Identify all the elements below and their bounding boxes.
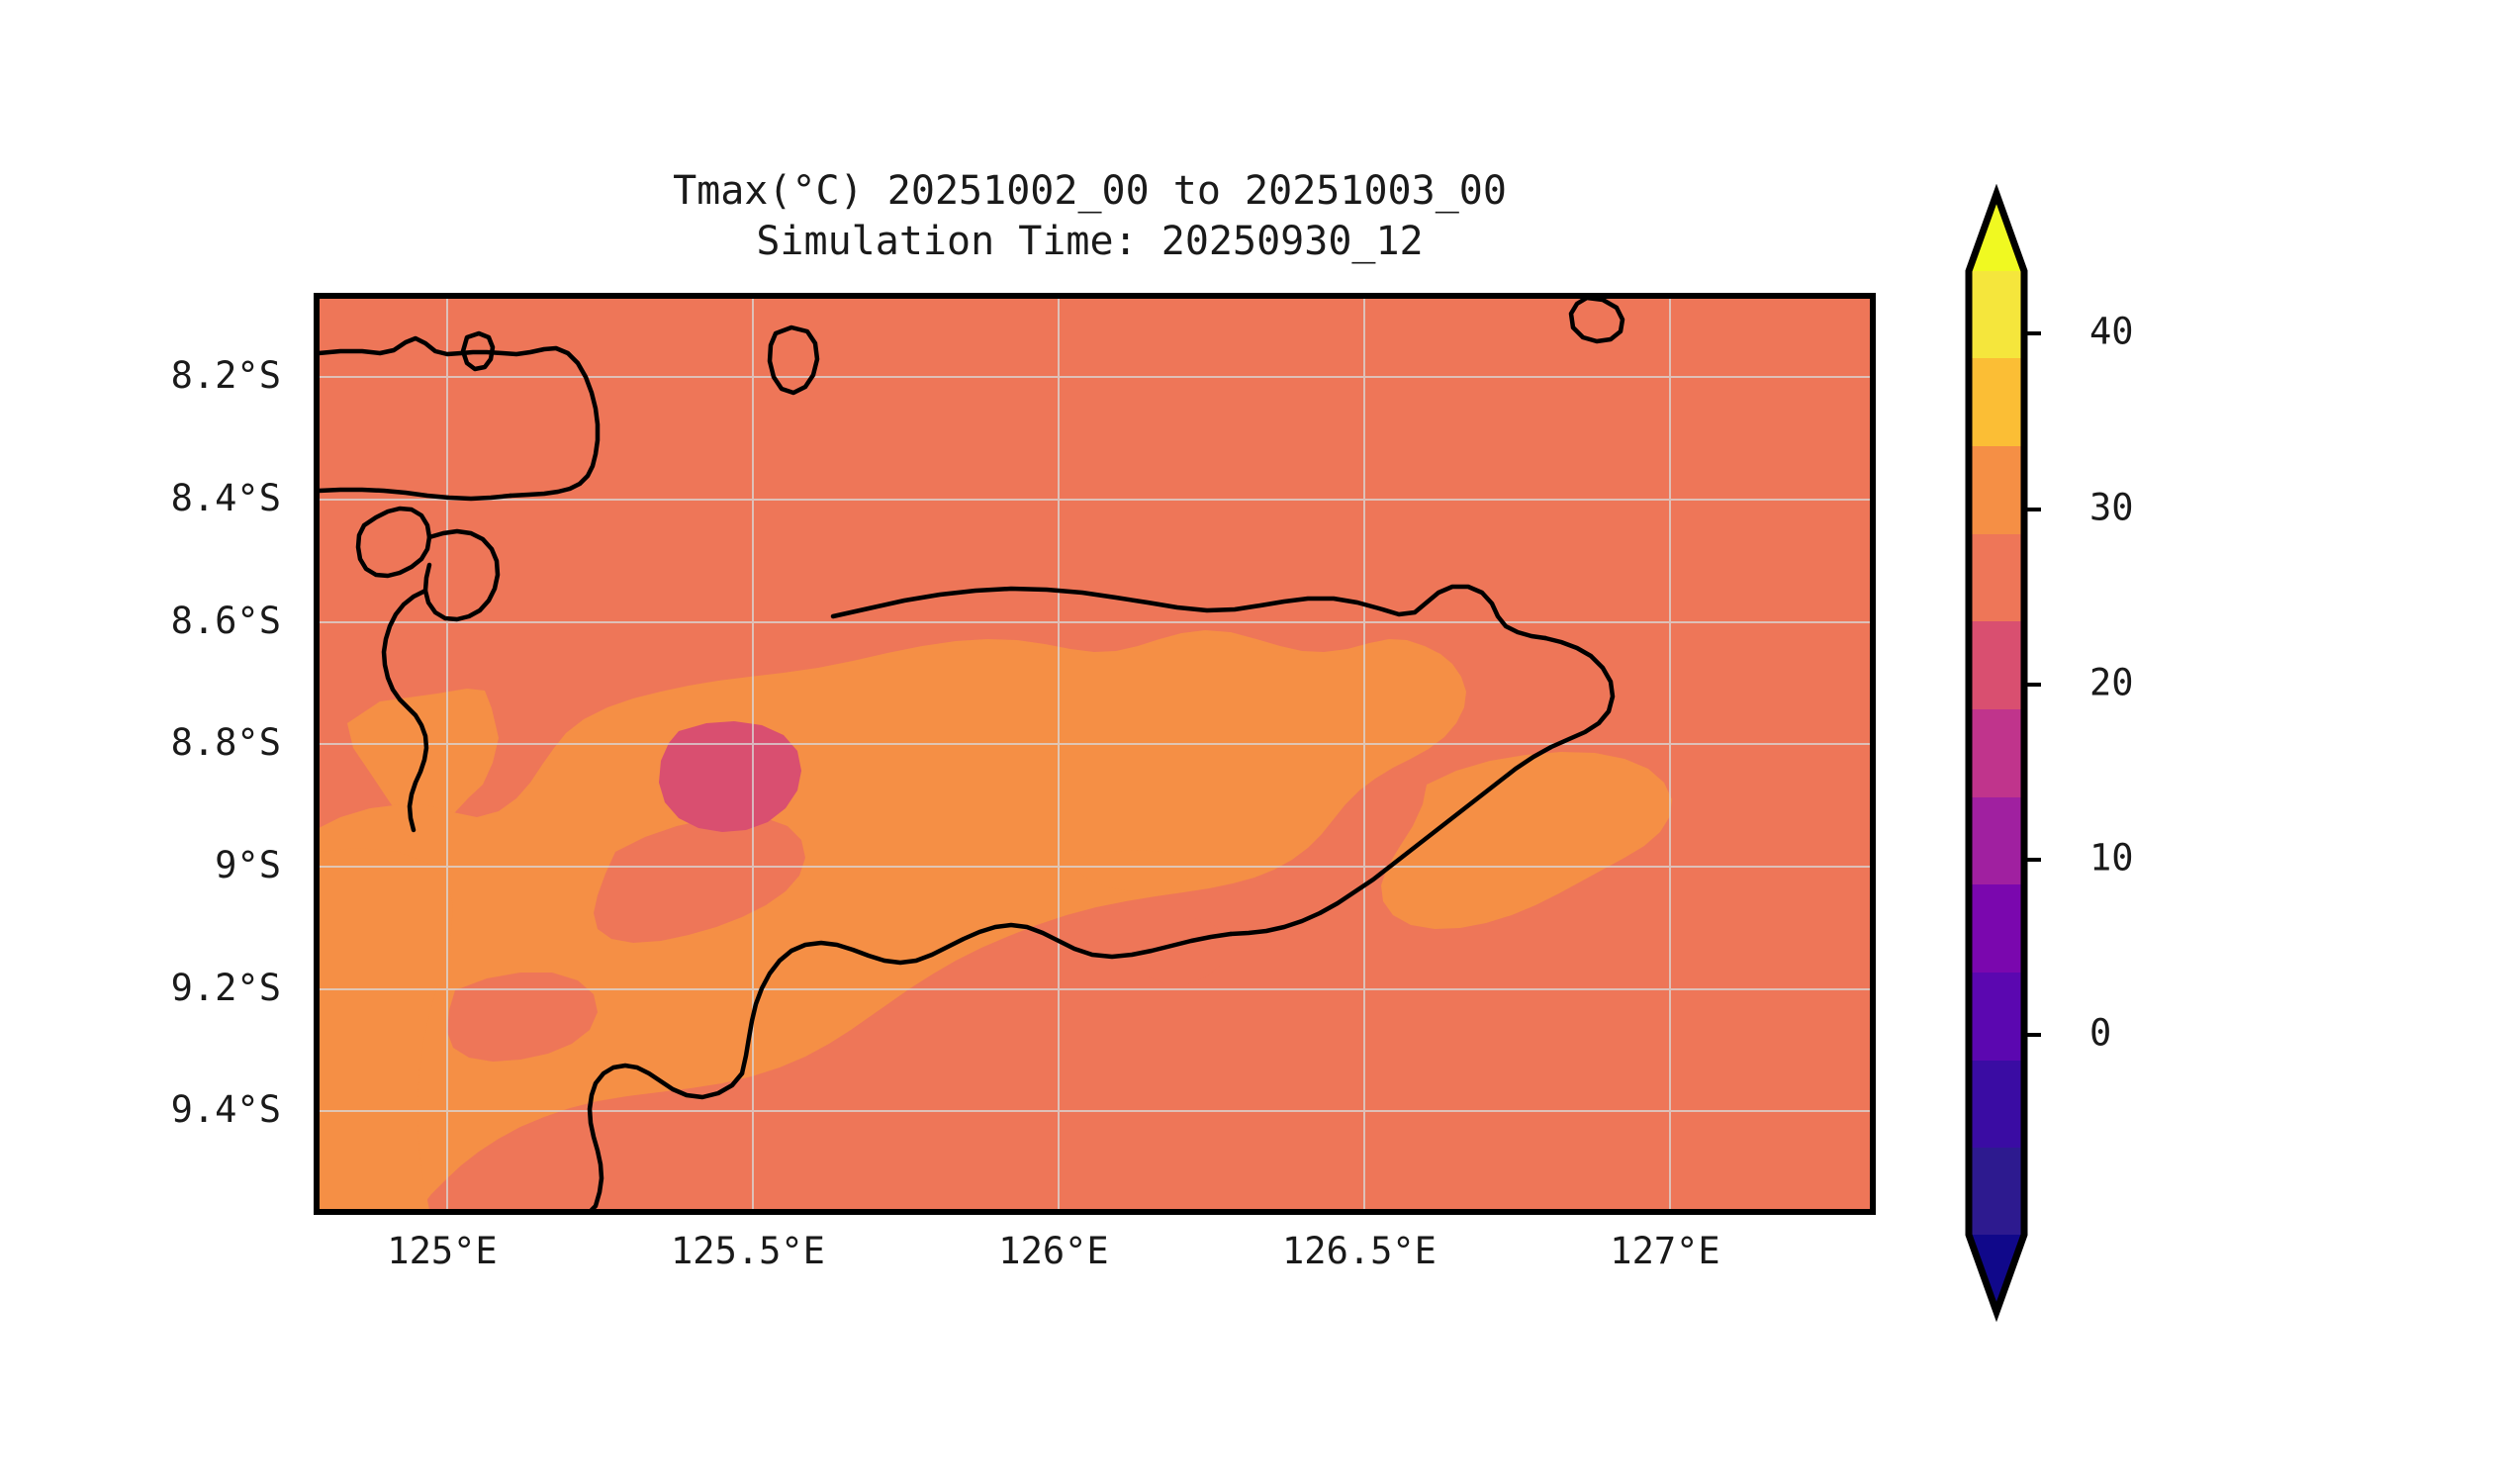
colorbar-band-30-35: [1969, 446, 2024, 534]
x-tick-label-3: 126.5°E: [1231, 1230, 1488, 1272]
colorbar-band-m5-0: [1969, 1061, 2024, 1149]
colorbar-band-m10-m5: [1969, 1148, 2024, 1235]
colorbar-band-5-10: [1969, 884, 2024, 973]
y-tick-label-3: 8.8°S: [93, 721, 281, 764]
colorbar-tick-mark-40: [2024, 331, 2041, 335]
colorbar-gradient: [1955, 184, 2038, 1322]
y-tick-label-2: 8.6°S: [93, 600, 281, 642]
colorbar-tick-label-40: 40: [2089, 311, 2134, 353]
temperature-contour-map: [319, 298, 1871, 1210]
x-tick-label-1: 125.5°E: [619, 1230, 877, 1272]
colorbar-under-arrow: [1969, 1235, 2024, 1312]
colorbar-tick-mark-20: [2024, 683, 2041, 687]
colorbar-band-0-5: [1969, 973, 2024, 1061]
colorbar-band-40-45: [1969, 271, 2024, 359]
y-tick-label-5: 9.2°S: [93, 967, 281, 1009]
colorbar-tick-mark-30: [2024, 508, 2041, 511]
chart-title: Tmax(°C) 20251002_00 to 20251003_00 Simu…: [314, 166, 1866, 267]
colorbar[interactable]: [1969, 184, 2024, 1322]
colorbar-over-arrow: [1969, 194, 2024, 271]
y-tick-label-6: 9.4°S: [93, 1088, 281, 1131]
title-line-1: Tmax(°C) 20251002_00 to 20251003_00: [314, 166, 1866, 217]
colorbar-tick-label-10: 10: [2089, 837, 2134, 880]
x-tick-label-0: 125°E: [314, 1230, 571, 1272]
colorbar-tick-mark-10: [2024, 858, 2041, 862]
colorbar-band-10-15: [1969, 797, 2024, 885]
y-tick-label-0: 8.2°S: [93, 354, 281, 397]
colorbar-tick-mark-0: [2024, 1033, 2041, 1037]
colorbar-band-25-30: [1969, 534, 2024, 622]
colorbar-tick-label-30: 30: [2089, 487, 2134, 529]
y-tick-label-1: 8.4°S: [93, 477, 281, 519]
colorbar-tick-label-0: 0: [2089, 1012, 2111, 1055]
colorbar-tick-label-20: 20: [2089, 662, 2134, 704]
map-plot-area[interactable]: [314, 293, 1876, 1215]
title-line-2: Simulation Time: 20250930_12: [314, 217, 1866, 267]
colorbar-band-15-20: [1969, 709, 2024, 797]
y-tick-label-4: 9°S: [93, 844, 281, 886]
x-tick-label-4: 127°E: [1536, 1230, 1794, 1272]
colorbar-band-35-40: [1969, 358, 2024, 446]
colorbar-band-20-25: [1969, 621, 2024, 709]
figure-canvas: Tmax(°C) 20251002_00 to 20251003_00 Simu…: [0, 0, 2504, 1484]
x-tick-label-2: 126°E: [925, 1230, 1182, 1272]
